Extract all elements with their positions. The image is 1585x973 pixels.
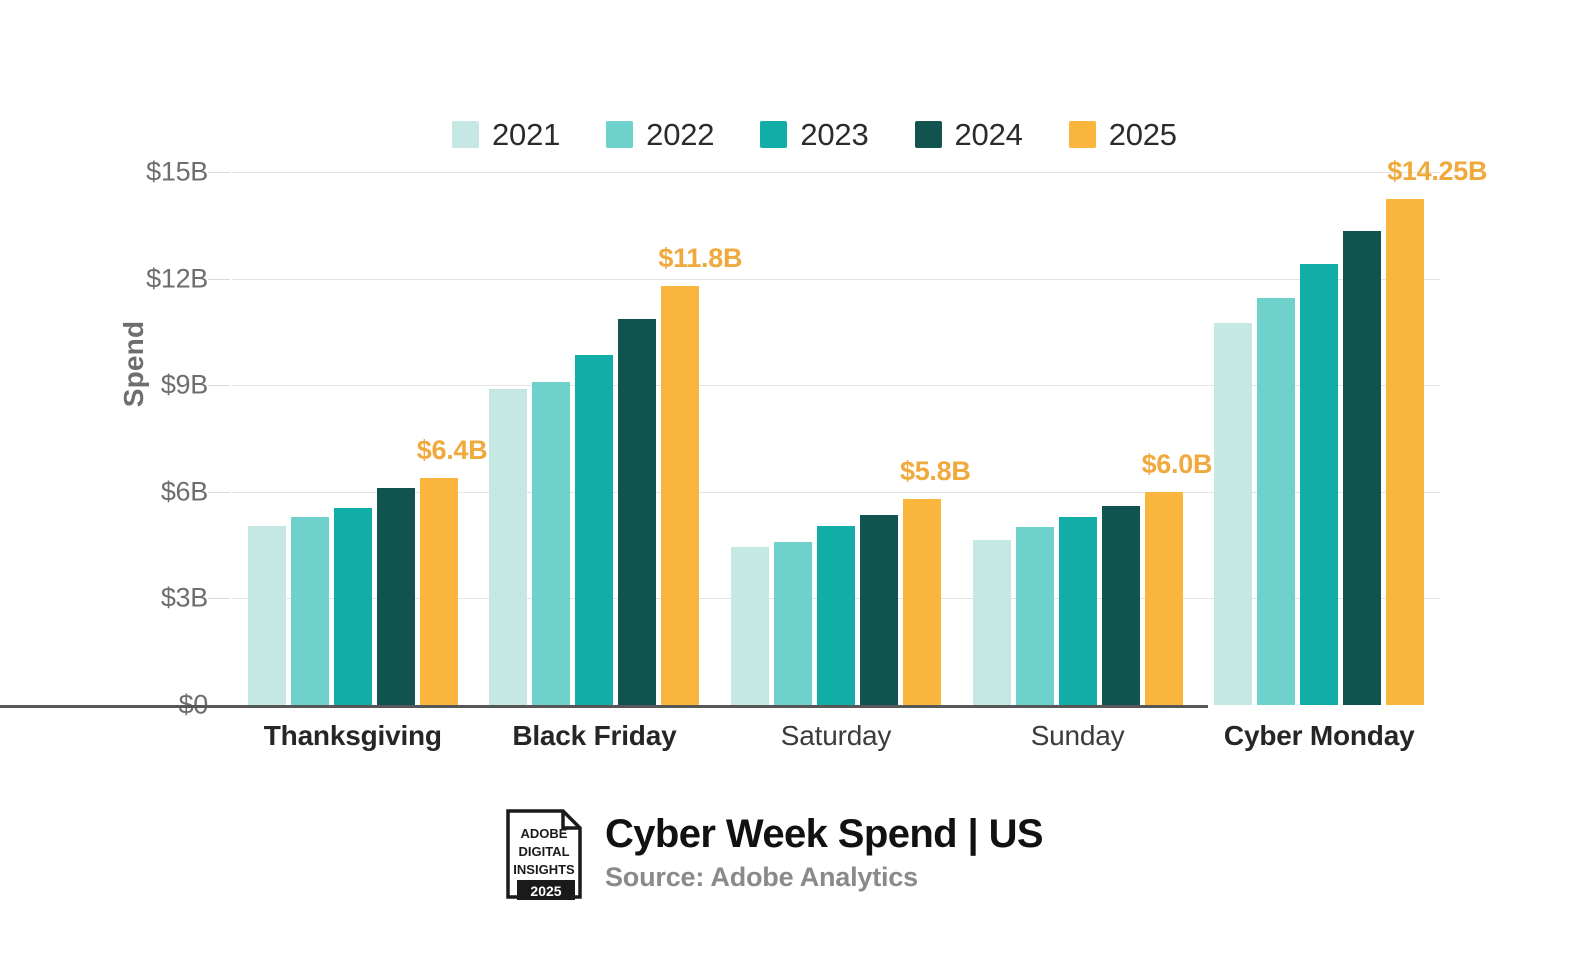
legend-item-2022[interactable]: 2022 (606, 119, 714, 150)
bar-value-label: $11.8B (658, 243, 701, 274)
bar-group: $6.0BSunday (973, 172, 1183, 705)
y-tick-mark (208, 598, 230, 599)
bar-2022[interactable] (1016, 527, 1054, 705)
logo-line3: INSIGHTS (513, 862, 575, 877)
bar-2023[interactable] (575, 355, 613, 705)
legend-label-2025: 2025 (1109, 119, 1177, 150)
y-tick-label: $15B (118, 157, 208, 188)
logo-line2: DIGITAL (518, 844, 569, 859)
legend-label-2021: 2021 (492, 119, 560, 150)
bar-value-label: $6.0B (1142, 449, 1185, 480)
plot-area: $6.4BThanksgiving$11.8BBlack Friday$5.8B… (232, 172, 1440, 705)
legend-swatch-2021 (452, 121, 479, 148)
legend-item-2024[interactable]: 2024 (915, 119, 1023, 150)
bar-2025[interactable] (661, 286, 699, 705)
bar-2022[interactable] (774, 542, 812, 705)
bar-group: $6.4BThanksgiving (248, 172, 458, 705)
bar-2024[interactable] (618, 319, 656, 705)
bar-2025[interactable] (1145, 492, 1183, 705)
adobe-digital-insights-logo-icon: ADOBE DIGITAL INSIGHTS 2025 (505, 808, 583, 900)
bar-2022[interactable] (1257, 298, 1295, 705)
chart-canvas: 2021 2022 2023 2024 2025 Spend $0$3B$6B$… (0, 0, 1585, 973)
legend-swatch-2022 (606, 121, 633, 148)
y-tick-label: $9B (118, 370, 208, 401)
chart-footer: ADOBE DIGITAL INSIGHTS 2025 Cyber Week S… (505, 808, 1043, 900)
bar-group-bars (1214, 172, 1424, 705)
bar-2023[interactable] (1059, 517, 1097, 705)
bar-group: $11.8BBlack Friday (489, 172, 699, 705)
bar-2021[interactable] (973, 540, 1011, 705)
legend-label-2024: 2024 (955, 119, 1023, 150)
chart-source: Source: Adobe Analytics (605, 861, 1043, 893)
bar-2024[interactable] (377, 488, 415, 705)
bar-group-bars (973, 172, 1183, 705)
bar-value-label: $6.4B (417, 435, 460, 466)
x-axis-category-label: Sunday (1031, 720, 1125, 752)
y-tick-mark (208, 279, 230, 280)
bar-2022[interactable] (291, 517, 329, 705)
y-tick-label: $3B (118, 583, 208, 614)
x-axis-category-label: Cyber Monday (1224, 720, 1415, 752)
bar-group-bars (731, 172, 941, 705)
chart-title: Cyber Week Spend | US (605, 812, 1043, 857)
x-axis-category-label: Thanksgiving (264, 720, 442, 752)
logo-year: 2025 (530, 883, 561, 899)
bar-2025[interactable] (1386, 199, 1424, 705)
legend-swatch-2024 (915, 121, 942, 148)
legend-label-2022: 2022 (646, 119, 714, 150)
bar-2023[interactable] (1300, 264, 1338, 705)
legend-swatch-2023 (760, 121, 787, 148)
chart-legend: 2021 2022 2023 2024 2025 (452, 110, 1232, 158)
footer-text-block: Cyber Week Spend | US Source: Adobe Anal… (605, 808, 1043, 893)
x-axis-line (0, 705, 1208, 708)
y-tick-mark (208, 492, 230, 493)
bar-2024[interactable] (1343, 231, 1381, 705)
legend-swatch-2025 (1069, 121, 1096, 148)
legend-item-2025[interactable]: 2025 (1069, 119, 1177, 150)
legend-label-2023: 2023 (800, 119, 868, 150)
legend-item-2023[interactable]: 2023 (760, 119, 868, 150)
bar-2023[interactable] (817, 526, 855, 705)
bar-2025[interactable] (420, 478, 458, 705)
bar-2021[interactable] (1214, 323, 1252, 705)
bar-value-label: $14.25B (1387, 156, 1430, 187)
legend-item-2021[interactable]: 2021 (452, 119, 560, 150)
y-axis-tick-labels: $0$3B$6B$9B$12B$15B (118, 172, 208, 705)
bar-2025[interactable] (903, 499, 941, 705)
bar-value-label: $5.8B (900, 456, 943, 487)
bar-2023[interactable] (334, 508, 372, 705)
bar-2024[interactable] (860, 515, 898, 705)
y-tick-label: $6B (118, 476, 208, 507)
x-axis-category-label: Black Friday (512, 720, 676, 752)
bar-group: $14.25BCyber Monday (1214, 172, 1424, 705)
y-tick-mark (208, 385, 230, 386)
bar-group: $5.8BSaturday (731, 172, 941, 705)
bar-2022[interactable] (532, 382, 570, 705)
bar-2021[interactable] (731, 547, 769, 705)
y-tick-label: $12B (118, 263, 208, 294)
logo-line1: ADOBE (521, 826, 568, 841)
bar-2021[interactable] (248, 526, 286, 705)
bar-2021[interactable] (489, 389, 527, 705)
y-tick-mark (208, 172, 230, 173)
bar-2024[interactable] (1102, 506, 1140, 705)
x-axis-category-label: Saturday (781, 720, 891, 752)
